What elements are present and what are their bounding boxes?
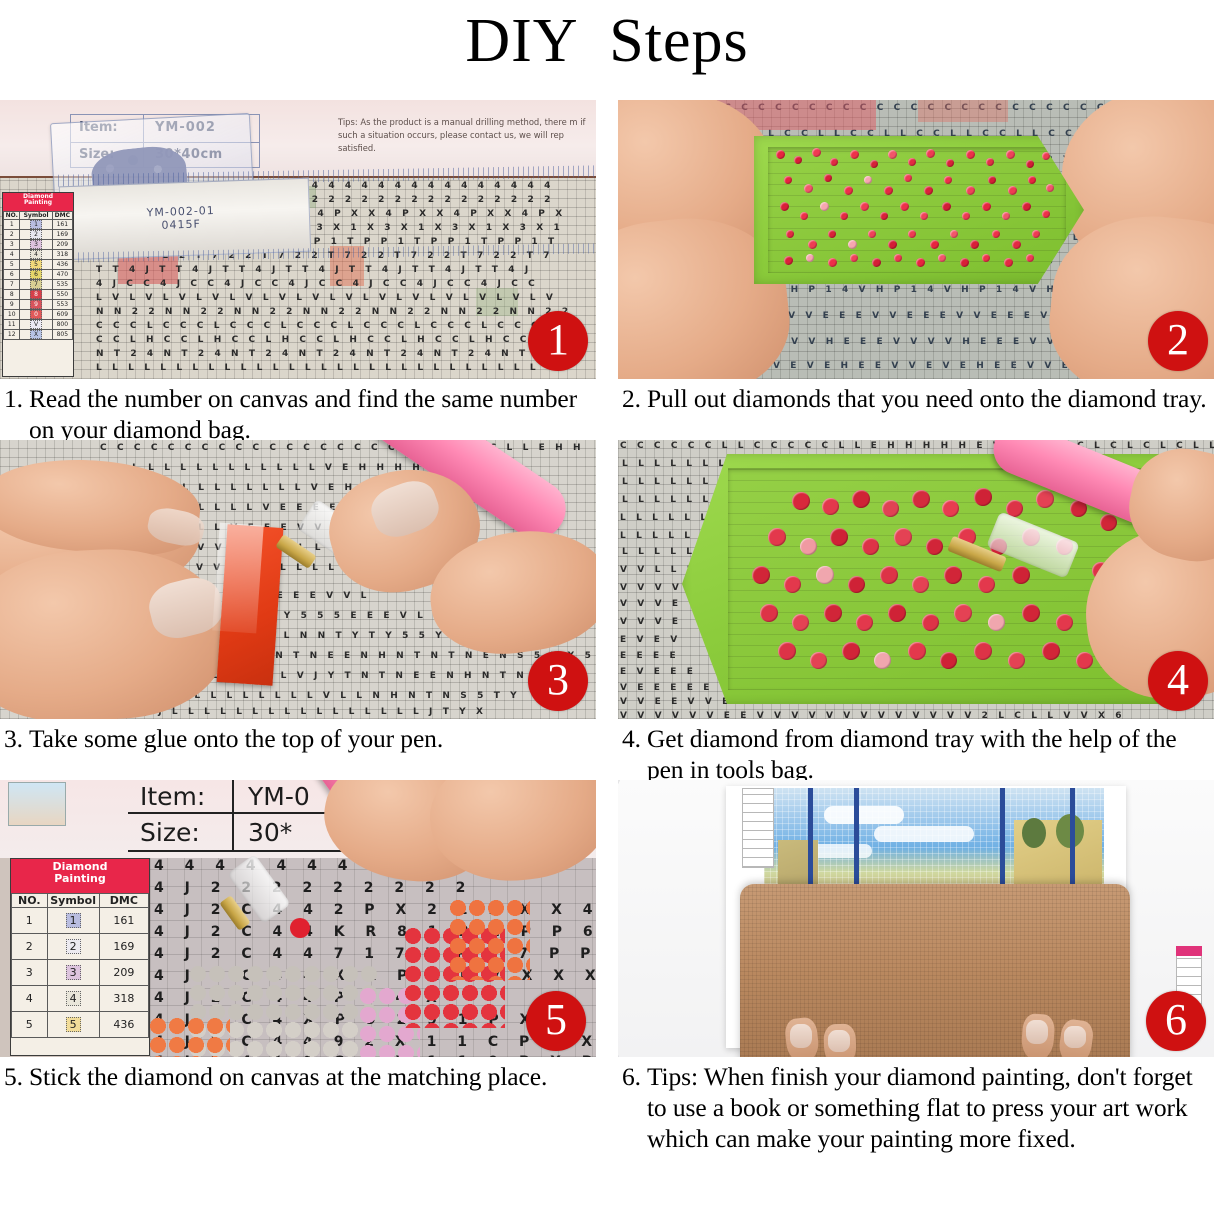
cell-dmc: 436 [52,260,72,270]
table-row: 99553 [4,300,73,310]
cell-no: 6 [4,270,20,280]
size-value: 30* [248,818,292,847]
chart-title: Diamond Painting [3,193,73,211]
bag-label: YM-002-01 0415F [121,203,242,233]
art-post [1070,788,1075,896]
chart-header-row: NO. Symbol DMC [4,212,73,220]
cell-dmc: 470 [52,270,72,280]
chart-legend-strip [742,788,774,868]
table-row: 100609 [4,310,73,320]
step-caption-6: 6. Tips: When finish your diamond painti… [618,1057,1214,1154]
finger-nail [828,1030,850,1052]
step-badge-1: 1 [528,311,588,371]
caption-body: Get diamond from diamond tray with the h… [647,723,1210,785]
canvas-symbol-row: 4 J C C 4 J C C 4 J C C 4 J C C 4 J C C … [96,280,596,289]
printed-color-patch [918,100,1008,122]
cell-symbol: 3 [47,960,99,986]
color-chart-small: Diamond Painting NO. Symbol DMC 11161 22… [2,192,74,377]
cell-no: 7 [4,280,20,290]
preview-thumbnail [8,782,66,826]
cell-symbol: 6 [20,270,52,280]
cell-dmc: 209 [52,240,72,250]
chart-col-dmc: DMC [99,894,148,908]
chart-col-symbol: Symbol [47,894,99,908]
caption-body: Stick the diamond on canvas at the match… [29,1061,590,1092]
step-cell-1: 4 4 4 4 4 4 4 4 4 4 4 4 4 4 4 4 4 4 4 4 … [0,100,598,440]
cell-symbol: 1 [20,220,52,230]
canvas-symbol-row: C C C C C C C C C C C C C C C C C C C C … [100,444,596,453]
step-badge-6: 6 [1146,991,1206,1051]
step-photo-3: C C C C C C C C C C C C C C C C C C C C … [0,440,596,719]
step-cell-5: Item: YM-0 Size: 30* Diamond Painting NO [0,780,598,1214]
cell-dmc: 553 [52,300,72,310]
chart-col-symbol: Symbol [20,212,52,220]
chart-table: NO. Symbol DMC 11161 22169 33209 44318 5… [3,211,73,340]
cell-dmc: 169 [99,934,148,960]
cell-dmc: 209 [99,960,148,986]
step-cell-3: C C C C C C C C C C C C C C C C C C C C … [0,440,598,780]
cell-no: 5 [12,1012,48,1038]
cell-symbol: 0 [20,310,52,320]
step-photo-6: 6 [618,780,1214,1057]
finger-nail [1064,1026,1086,1048]
cell-no: 5 [4,260,20,270]
table-row: 44318 [4,250,73,260]
art-tree [1022,818,1046,848]
cell-dmc: 161 [52,220,72,230]
canvas-symbol-row: L V L V L V L V L V L V L V L V L V L V … [96,294,596,303]
cell-no: 2 [12,934,48,960]
caption-number: 4. [622,723,647,785]
chart-title-line1: Diamond [11,861,149,873]
chart-col-no: NO. [12,894,48,908]
cell-no: 10 [4,310,20,320]
step-caption-5: 5. Stick the diamond on canvas at the ma… [0,1057,596,1092]
cell-dmc: 161 [99,908,148,934]
canvas-symbol-row: C C L H C C L H C C L H C C L H C C L H … [96,336,596,345]
step-caption-4: 4. Get diamond from diamond tray with th… [618,719,1214,785]
caption-number: 2. [622,383,647,414]
cell-symbol: 8 [20,290,52,300]
step-badge-3: 3 [528,651,588,711]
cell-symbol: 9 [20,300,52,310]
cell-symbol: X [20,330,52,340]
step-badge-5: 5 [526,991,586,1051]
art-post [854,788,859,896]
table-row: 12X805 [4,330,73,340]
step-photo-5: Item: YM-0 Size: 30* Diamond Painting NO [0,780,596,1057]
caption-body: Read the number on canvas and find the s… [29,383,590,445]
diamond-tray [754,136,1084,284]
cell-no: 1 [12,908,48,934]
cell-symbol: 1 [47,908,99,934]
art-cloud [874,826,974,842]
step-photo-4: C C C C C C L L C C C C C L L E H H H H … [618,440,1214,719]
caption-body: Tips: When finish your diamond painting,… [647,1061,1210,1154]
caption-body: Take some glue onto the top of your pen. [29,723,590,754]
table-row: 55436 [4,260,73,270]
tray-diamonds [754,136,1084,284]
caption-number: 1. [4,383,29,445]
caption-body: Pull out diamonds that you need onto the… [647,383,1210,414]
table-row: 22169 [12,934,149,960]
cell-dmc: 318 [99,986,148,1012]
finger-nail [790,1024,812,1048]
canvas-symbol-row: C C C L C C C L C C C L C C C L C C C L … [96,322,596,331]
cell-symbol: V [20,320,52,330]
bag-label-line1: YM-002-01 [146,204,215,219]
cell-symbol: 3 [20,240,52,250]
table-row: 44318 [12,986,149,1012]
step-cell-4: C C C C C C L L C C C C C L L E H H H H … [598,440,1214,780]
table-row: 55436 [12,1012,149,1038]
caption-number: 5. [4,1061,29,1092]
chart-header-row: NO. Symbol DMC [12,894,149,908]
placed-diamonds-orange [450,900,530,980]
cell-symbol: 2 [47,934,99,960]
cell-dmc: 436 [99,1012,148,1038]
art-post [1000,788,1005,896]
table-row: 66470 [4,270,73,280]
step-caption-2: 2. Pull out diamonds that you need onto … [618,379,1214,414]
cell-dmc: 805 [52,330,72,340]
step-cell-2: V L L C C C C C C C C C C C C C C C C C … [598,100,1214,440]
table-row: 77535 [4,280,73,290]
cell-no: 3 [12,960,48,986]
chart-col-dmc: DMC [52,212,72,220]
canvas-symbol-row: C C C C C C L L C C C C C L L E H H H H … [620,442,1214,451]
step-badge-2: 2 [1148,311,1208,371]
bag-label-line2: 0415F [121,216,241,233]
finger-nail [1026,1020,1048,1044]
table-row: 33209 [4,240,73,250]
step-photo-2: V L L C C C C C C C C C C C C C C C C C … [618,100,1214,379]
cell-no: 4 [4,250,20,260]
step-badge-4: 4 [1148,651,1208,711]
glue-highlight [212,523,263,634]
table-row: 22169 [4,230,73,240]
table-row: 11V800 [4,320,73,330]
placed-diamonds-grey [190,966,380,1022]
cell-no: 2 [4,230,20,240]
step-cell-6: 6 6. Tips: When finish your diamond pain… [598,780,1214,1214]
legend-color-block [1176,946,1202,956]
cell-no: 4 [12,986,48,1012]
table-row: 88550 [4,290,73,300]
diamond-being-placed [290,918,310,938]
step-caption-1: 1. Read the number on canvas and find th… [0,379,596,445]
art-post [808,788,813,896]
cell-dmc: 318 [52,250,72,260]
table-row: 11161 [12,908,149,934]
steps-grid: 4 4 4 4 4 4 4 4 4 4 4 4 4 4 4 4 4 4 4 4 … [0,100,1214,1214]
paper-tips-text: Tips: As the product is a manual drillin… [338,116,596,155]
cell-dmc: 535 [52,280,72,290]
cell-no: 1 [4,220,20,230]
cell-symbol: 4 [47,986,99,1012]
cell-dmc: 169 [52,230,72,240]
diy-steps-page: DIY Steps 4 4 4 4 4 4 4 4 4 4 4 4 4 4 4 … [0,0,1214,1214]
canvas-symbol-row: V V V V V V E E V V V V V V V V V V V V … [620,712,1214,719]
step-photo-1: 4 4 4 4 4 4 4 4 4 4 4 4 4 4 4 4 4 4 4 4 … [0,100,596,379]
placed-diamonds-orange [150,1018,230,1057]
step-caption-3: 3. Take some glue onto the top of your p… [0,719,596,754]
table-row: 11161 [4,220,73,230]
cell-dmc: 550 [52,290,72,300]
cell-dmc: 609 [52,310,72,320]
art-cloud [824,806,904,824]
color-chart-large: Diamond Painting NO. Symbol DMC 11161 22… [10,858,150,1056]
cell-no: 12 [4,330,20,340]
cell-symbol: 4 [20,250,52,260]
cell-symbol: 7 [20,280,52,290]
canvas-symbol-row: N N 2 2 N N 2 2 N N 2 2 N N 2 2 N N 2 2 … [96,308,596,317]
caption-number: 3. [4,723,29,754]
cell-no: 8 [4,290,20,300]
item-label: Item: [140,782,205,811]
chart-title-line2: Painting [11,873,149,885]
table-row: 33209 [12,960,149,986]
caption-number: 6. [622,1061,647,1154]
cell-symbol: 5 [47,1012,99,1038]
chart-col-no: NO. [4,212,20,220]
cell-symbol: 2 [20,230,52,240]
cell-no: 3 [4,240,20,250]
box-divider [232,780,234,850]
chart-title-line2: Painting [3,200,73,206]
canvas-symbol-row: L L L L L L L L L L L L L L L L L L L L … [96,364,596,373]
cell-no: 11 [4,320,20,330]
cell-dmc: 800 [52,320,72,330]
page-title: DIY Steps [0,6,1214,77]
chart-title: Diamond Painting [11,859,149,893]
size-label: Size: [140,818,200,847]
canvas-symbol-row: T T 4 J T T 4 J T T 4 J T T 4 J T T 4 J … [96,266,596,275]
chart-table: NO. Symbol DMC 11161 22169 33209 44318 5… [11,893,149,1038]
canvas-symbol-row: N T 2 4 N T 2 4 N T 2 4 N T 2 4 N T 2 4 … [96,350,596,359]
cell-symbol: 5 [20,260,52,270]
cell-no: 9 [4,300,20,310]
item-value: YM-0 [248,782,310,811]
canvas-symbol-row: 4 J 2 2 2 2 2 2 2 2 2 [154,884,596,893]
